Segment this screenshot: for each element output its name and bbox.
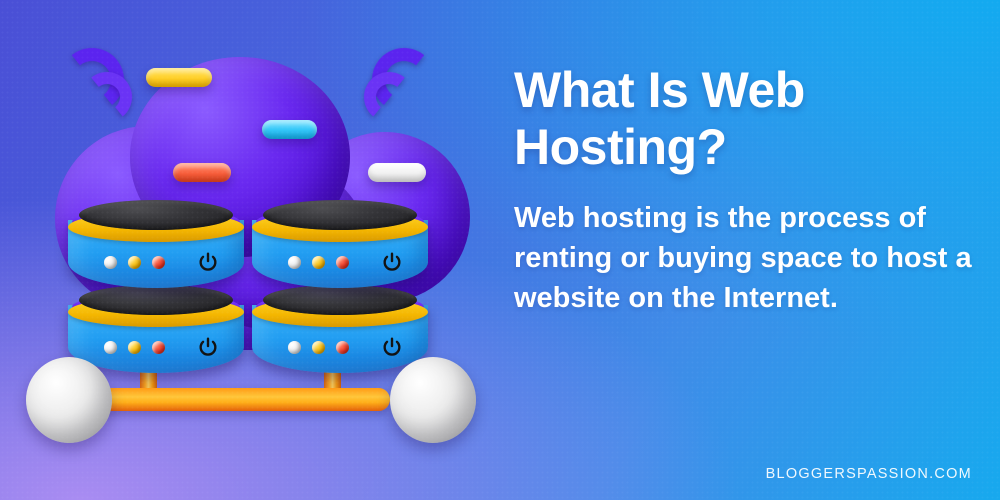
power-icon xyxy=(197,336,219,358)
led-white xyxy=(288,256,301,269)
led-yellow xyxy=(128,341,141,354)
server-led-group xyxy=(104,341,165,354)
led-red xyxy=(152,256,165,269)
server-top xyxy=(79,285,233,315)
led-white xyxy=(104,341,117,354)
graphic-canvas: What Is Web Hosting? Web hosting is the … xyxy=(0,0,1000,500)
led-white xyxy=(104,256,117,269)
stand-crossbar xyxy=(74,388,390,411)
server-led-group xyxy=(288,341,349,354)
stand-sphere-left xyxy=(26,357,112,443)
server-unit-bottom-right xyxy=(252,283,428,373)
stand-sphere-right xyxy=(390,357,476,443)
led-yellow xyxy=(312,256,325,269)
led-red xyxy=(336,341,349,354)
led-white xyxy=(288,341,301,354)
page-description: Web hosting is the process of renting or… xyxy=(514,198,976,318)
server-unit-bottom-left xyxy=(68,283,244,373)
text-column: What Is Web Hosting? Web hosting is the … xyxy=(514,62,984,318)
server-led-group xyxy=(104,256,165,269)
power-icon xyxy=(197,251,219,273)
led-red xyxy=(336,256,349,269)
brand-watermark: BLOGGERSPASSION.COM xyxy=(766,466,972,482)
server-led-group xyxy=(288,256,349,269)
power-icon xyxy=(381,336,403,358)
server-top xyxy=(263,200,417,230)
server-unit-top-left xyxy=(68,198,244,288)
server-top xyxy=(79,200,233,230)
page-title: What Is Web Hosting? xyxy=(514,62,984,176)
led-yellow xyxy=(312,341,325,354)
server-top xyxy=(263,285,417,315)
led-red xyxy=(152,341,165,354)
led-yellow xyxy=(128,256,141,269)
power-icon xyxy=(381,251,403,273)
server-unit-top-right xyxy=(252,198,428,288)
cloud-hosting-illustration xyxy=(0,0,500,500)
